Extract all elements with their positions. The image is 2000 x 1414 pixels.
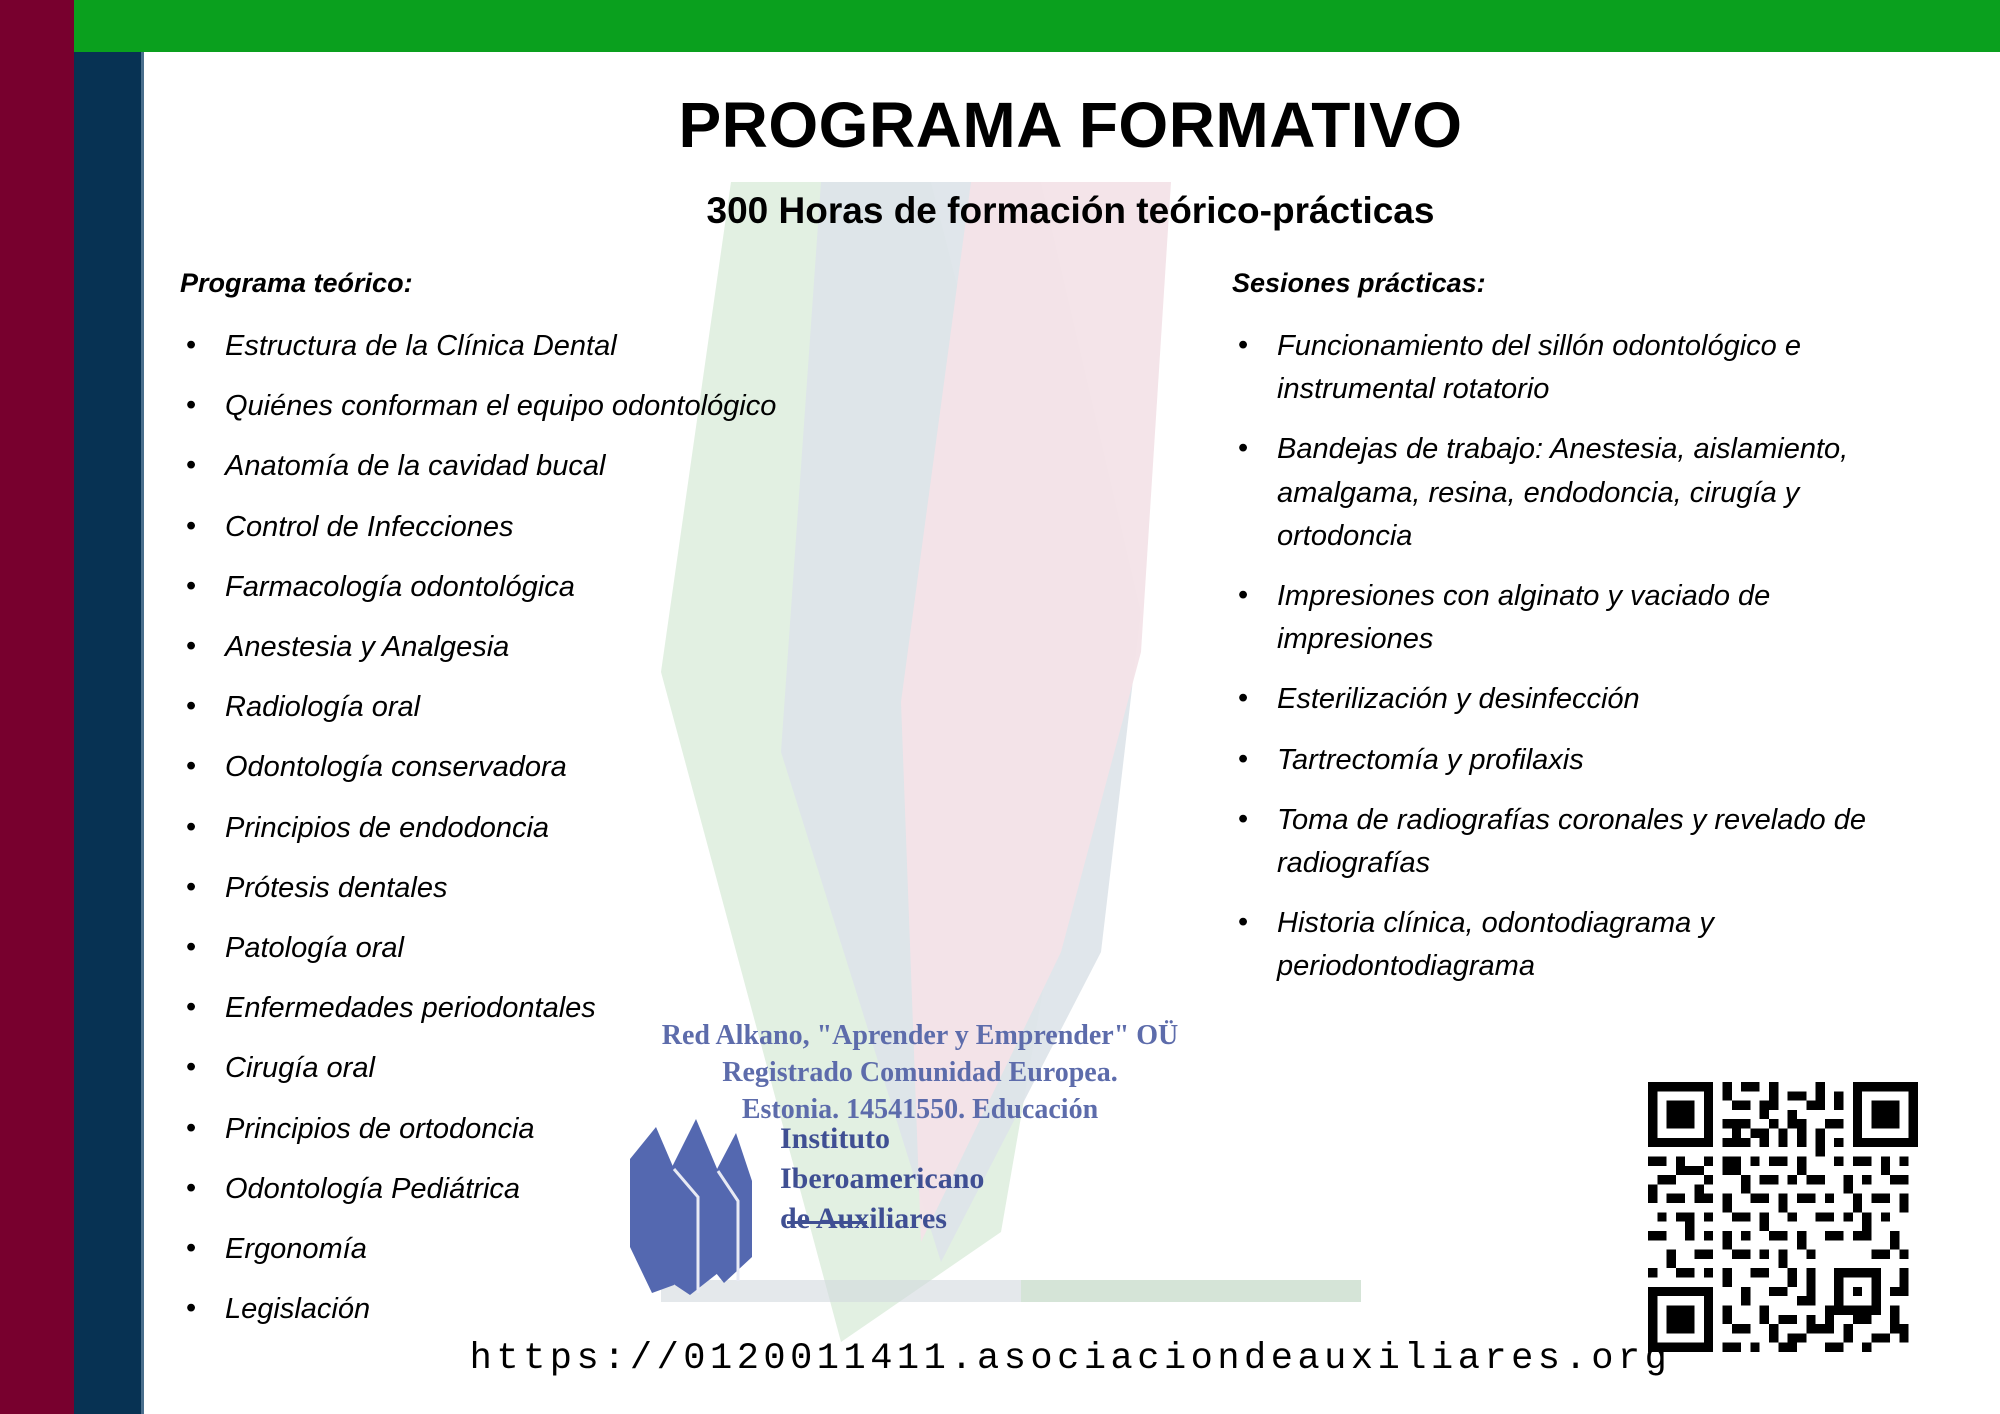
list-item: Prótesis dentales: [178, 867, 778, 910]
practice-column: Sesiones prácticas: Funcionamiento del s…: [1230, 268, 1870, 1006]
list-item: Radiología oral: [178, 686, 778, 729]
left-navy-bar-edge: [141, 52, 144, 1414]
organization-logo-block: Red Alkano, "Aprender y Emprender" OÜ Re…: [600, 1017, 1240, 1307]
institute-line-2: Iberoamericano: [780, 1159, 984, 1199]
page-title: PROGRAMA FORMATIVO: [141, 92, 2000, 159]
list-item: Odontología conservadora: [178, 746, 778, 789]
institute-line-1: Instituto: [780, 1119, 984, 1159]
footer-url[interactable]: https://0120011411.asociaciondeauxiliare…: [141, 1338, 2000, 1380]
three-leaf-logo-icon: [612, 1097, 772, 1297]
list-item: Toma de radiografías coronales y revelad…: [1230, 799, 1870, 885]
list-item: Anatomía de la cavidad bucal: [178, 445, 778, 488]
list-item: Tartrectomía y profilaxis: [1230, 739, 1870, 782]
list-item: Esterilización y desinfección: [1230, 678, 1870, 721]
page-subtitle: 300 Horas de formación teórico-prácticas: [141, 190, 2000, 232]
theory-heading: Programa teórico:: [178, 268, 778, 299]
logo-line-2: Registrado Comunidad Europea.: [600, 1054, 1240, 1091]
list-item: Control de Infecciones: [178, 506, 778, 549]
list-item: Farmacología odontológica: [178, 566, 778, 609]
qr-code[interactable]: [1648, 1082, 1918, 1352]
institute-line-3: de Auxiliares: [780, 1199, 984, 1239]
list-item: Impresiones con alginato y vaciado de im…: [1230, 575, 1870, 661]
practice-list: Funcionamiento del sillón odontológico e…: [1230, 325, 1870, 989]
list-item: Funcionamiento del sillón odontológico e…: [1230, 325, 1870, 411]
top-green-bar: [74, 0, 2000, 52]
poster-page: PROGRAMA FORMATIVO 300 Horas de formació…: [0, 0, 2000, 1414]
list-item: Quiénes conforman el equipo odontológico: [178, 385, 778, 428]
logo-line-1: Red Alkano, "Aprender y Emprender" OÜ: [600, 1017, 1240, 1054]
list-item: Historia clínica, odontodiagrama y perio…: [1230, 902, 1870, 988]
left-navy-bar: [74, 52, 141, 1414]
practice-heading: Sesiones prácticas:: [1230, 268, 1870, 299]
list-item: Patología oral: [178, 927, 778, 970]
list-item: Estructura de la Clínica Dental: [178, 325, 778, 368]
institute-underline: [787, 1221, 867, 1224]
list-item: Anestesia y Analgesia: [178, 626, 778, 669]
list-item: Bandejas de trabajo: Anestesia, aislamie…: [1230, 428, 1870, 558]
left-maroon-bar: [0, 0, 74, 1414]
list-item: Principios de endodoncia: [178, 807, 778, 850]
